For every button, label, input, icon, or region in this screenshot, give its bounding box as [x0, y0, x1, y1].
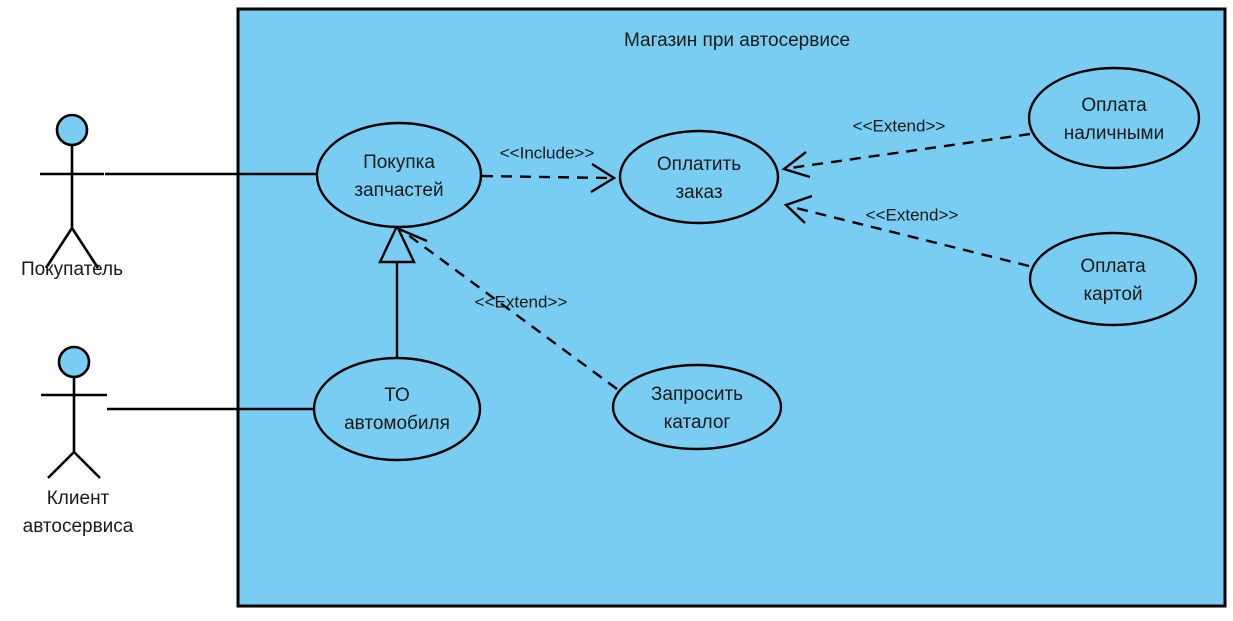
actor-service-client-label-line1: Клиент	[47, 488, 110, 509]
use-case-ellipse	[314, 358, 480, 460]
use-case-pay-cash[interactable]: Оплата наличными	[1029, 68, 1199, 168]
stereotype-label-extend-catalog: <<Extend>>	[475, 292, 568, 311]
actor-buyer-label: Покупатель	[21, 259, 123, 280]
actor-body-icon	[40, 145, 104, 268]
use-case-pay-order[interactable]: Оплатить заказ	[620, 131, 778, 223]
use-case-label-line2: наличными	[1064, 123, 1164, 144]
use-case-label-line1: Оплата	[1080, 256, 1146, 277]
stereotype-label-extend-card: <<Extend>>	[866, 205, 959, 224]
use-case-buy-parts[interactable]: Покупка запчастей	[317, 123, 481, 227]
system-title: Магазин при автосервисе	[624, 30, 850, 51]
use-case-ellipse	[1030, 233, 1196, 325]
diagram-canvas: Магазин при автосервисе Покупатель Клиен…	[0, 0, 1233, 621]
use-case-label-line1: Оплата	[1081, 95, 1147, 116]
use-case-request-catalog[interactable]: Запросить каталог	[613, 365, 781, 449]
actor-head-icon	[59, 347, 89, 377]
use-case-label-line1: ТО	[384, 385, 410, 406]
use-case-pay-card[interactable]: Оплата картой	[1030, 233, 1196, 325]
use-case-ellipse	[1029, 68, 1199, 168]
actor-service-client-label-line2: автосервиса	[23, 516, 134, 537]
use-case-label-line2: автомобиля	[344, 413, 450, 434]
actor-head-icon	[57, 115, 87, 145]
uml-use-case-diagram: Магазин при автосервисе Покупатель Клиен…	[0, 0, 1233, 621]
use-case-label-line2: картой	[1083, 284, 1142, 305]
stereotype-label-extend-cash: <<Extend>>	[853, 116, 946, 135]
use-case-label-line1: Оплатить	[657, 154, 741, 175]
actor-body-icon	[41, 377, 107, 478]
use-case-label-line2: каталог	[664, 412, 731, 433]
use-case-ellipse	[620, 131, 778, 223]
use-case-label-line2: заказ	[675, 182, 722, 203]
use-case-label-line2: запчастей	[354, 180, 443, 201]
use-case-ellipse	[613, 365, 781, 449]
actor-buyer[interactable]	[40, 115, 104, 268]
actor-service-client[interactable]	[41, 347, 107, 478]
stereotype-label-include: <<Include>>	[500, 143, 595, 162]
use-case-ellipse	[317, 123, 481, 227]
use-case-label-line1: Запросить	[651, 384, 743, 405]
use-case-label-line1: Покупка	[363, 152, 435, 173]
use-case-car-service[interactable]: ТО автомобиля	[314, 358, 480, 460]
